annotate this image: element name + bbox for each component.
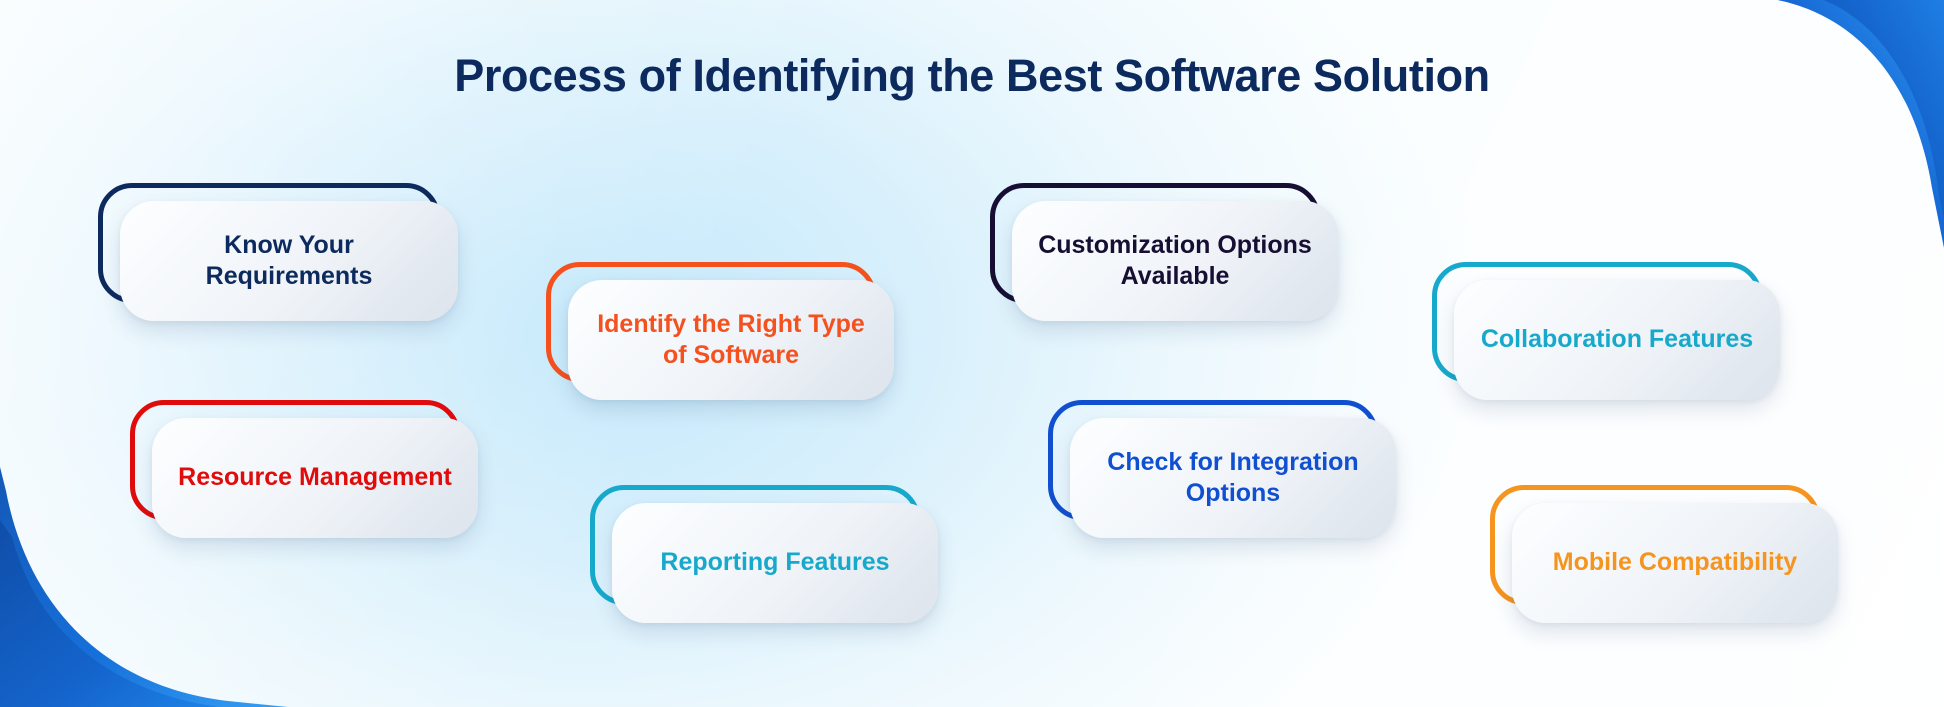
card-face: Check for Integration Options [1070,418,1396,538]
card-face: Reporting Features [612,503,938,623]
card-collaboration-features[interactable]: Collaboration Features [1432,262,1762,382]
card-identify-the-right-type-of-software[interactable]: Identify the Right Type of Software [546,262,876,382]
card-face: Collaboration Features [1454,280,1780,400]
card-face: Know Your Requirements [120,201,458,321]
card-mobile-compatibility[interactable]: Mobile Compatibility [1490,485,1820,605]
card-face: Mobile Compatibility [1512,503,1838,623]
card-label: Mobile Compatibility [1533,547,1817,578]
card-face: Customization Options Available [1012,201,1338,321]
card-face: Resource Management [152,418,478,538]
card-resource-management[interactable]: Resource Management [130,400,460,520]
card-label: Resource Management [158,462,472,493]
card-label: Collaboration Features [1461,324,1773,355]
card-label: Reporting Features [640,547,909,578]
card-label: Know Your Requirements [120,230,458,293]
card-label: Check for Integration Options [1070,447,1396,510]
page-title: Process of Identifying the Best Software… [0,50,1944,102]
infographic-canvas: Process of Identifying the Best Software… [0,0,1944,707]
card-know-your-requirements[interactable]: Know Your Requirements [98,183,440,303]
card-label: Customization Options Available [1012,230,1338,293]
card-face: Identify the Right Type of Software [568,280,894,400]
card-reporting-features[interactable]: Reporting Features [590,485,920,605]
card-check-for-integration-options[interactable]: Check for Integration Options [1048,400,1378,520]
card-customization-options-available[interactable]: Customization Options Available [990,183,1320,303]
card-label: Identify the Right Type of Software [568,309,894,372]
